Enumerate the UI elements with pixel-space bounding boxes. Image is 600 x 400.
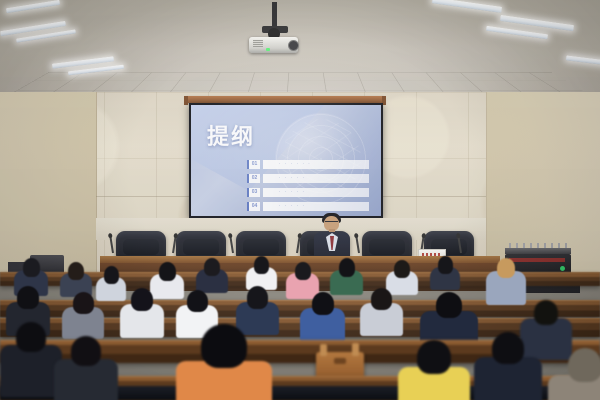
person-head <box>295 262 311 280</box>
person-head <box>394 260 410 278</box>
slide-item-bar: · · · · · <box>263 188 369 197</box>
slide-item-number: 02 <box>247 174 260 183</box>
person-head <box>492 332 524 364</box>
person-head <box>339 258 355 277</box>
person-head <box>312 292 334 315</box>
slide-item-bar: · · · · · <box>263 174 369 183</box>
person-head <box>68 262 84 280</box>
head-table-chair-3 <box>236 231 286 259</box>
person-head <box>438 256 453 274</box>
person-head <box>16 322 46 352</box>
person-head <box>436 292 462 318</box>
slide-outline-item-1: 01· · · · · · <box>247 160 369 169</box>
slide-item-text: · · · · · <box>263 204 305 209</box>
slide-item-number: 04 <box>247 202 260 211</box>
glasses-icon <box>325 221 338 225</box>
audience-person-front-yellow <box>398 340 470 400</box>
slide-outline-item-2: 02· · · · · <box>247 174 369 183</box>
slide-item-text: · · · · · · <box>263 162 311 167</box>
slide-item-number: 03 <box>247 188 260 197</box>
lecture-hall-photo: 提纲 01· · · · · ·02· · · · ·03· · · · ·04… <box>0 0 600 400</box>
person-head <box>247 286 268 309</box>
slide-outline-item-4: 04· · · · · <box>247 202 369 211</box>
person-head <box>534 300 558 325</box>
audience-person-front-left-2 <box>54 336 118 400</box>
head-table-chair-1 <box>116 231 166 259</box>
slide-outline-item-3: 03· · · · · <box>247 188 369 197</box>
audience-person-front-right <box>474 332 542 400</box>
person-head <box>497 258 515 278</box>
projector-vent <box>253 40 263 47</box>
audience-person-front-orange <box>176 324 272 400</box>
audience-person-front-grey <box>548 348 600 400</box>
head-table-chair-5 <box>362 231 412 259</box>
head-table-chair-2 <box>176 231 226 259</box>
person-head <box>159 262 176 281</box>
audience-person-mid-center-1 <box>120 288 164 341</box>
screen-valance-end-left <box>184 96 188 105</box>
wall-panel-left <box>0 92 97 272</box>
person-head <box>131 288 153 311</box>
slide-item-text: · · · · · <box>263 176 305 181</box>
person-head <box>417 340 451 374</box>
person-head <box>201 324 247 368</box>
person-head <box>17 286 39 309</box>
screen-valance <box>186 96 384 103</box>
slide-item-bar: · · · · · <box>263 202 369 211</box>
briefcase-clasp <box>334 358 346 364</box>
person-head <box>204 258 220 276</box>
mixer-power-led <box>560 266 565 271</box>
audience-person-front-left-1 <box>0 322 62 400</box>
slide-item-bar: · · · · · · <box>263 160 369 169</box>
person-head <box>23 258 40 277</box>
person-head <box>187 290 208 312</box>
slide-outline-list: 01· · · · · ·02· · · · ·03· · · · ·04· ·… <box>247 160 369 216</box>
person-head <box>71 336 101 366</box>
slide-item-number: 01 <box>247 160 260 169</box>
audience-person-back-right-3 <box>430 256 460 293</box>
presentation-slide: 提纲 01· · · · · ·02· · · · ·03· · · · ·04… <box>191 105 381 216</box>
audience-person-mid-left-2 <box>62 292 104 342</box>
slide-item-text: · · · · · <box>263 190 305 195</box>
projection-screen: 提纲 01· · · · · ·02· · · · ·03· · · · ·04… <box>189 103 383 218</box>
person-head <box>104 266 119 284</box>
projector-mount-stem <box>272 2 277 28</box>
person-head <box>371 288 392 310</box>
projector-lens <box>288 40 299 51</box>
audience-person-mid-right-1 <box>300 292 345 345</box>
person-head <box>254 256 269 274</box>
projector-power-led <box>266 48 270 51</box>
person-head <box>568 348 600 382</box>
person-head <box>73 292 94 314</box>
audience-person-mid-right-2 <box>360 288 403 339</box>
person-torso <box>0 345 62 397</box>
slide-title: 提纲 <box>207 119 255 151</box>
